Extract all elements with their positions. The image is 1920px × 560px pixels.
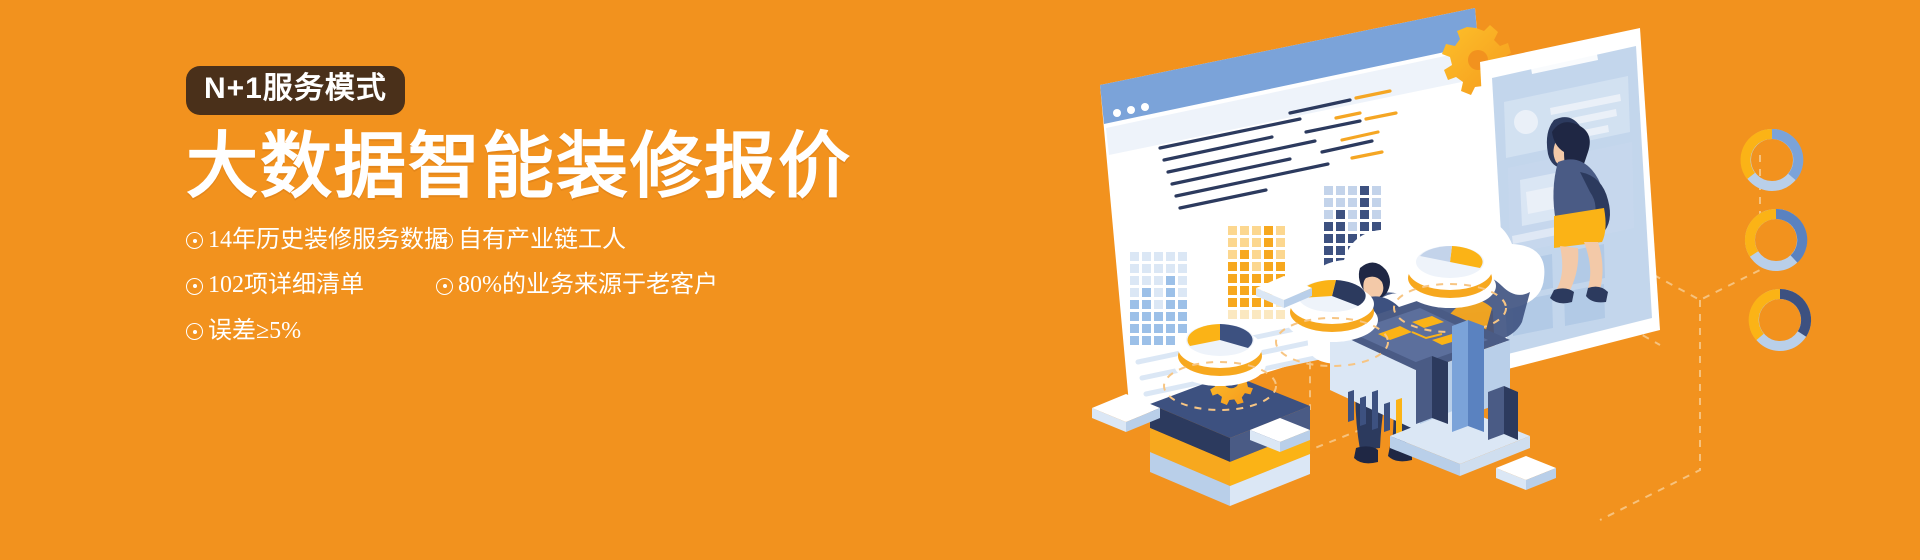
circled-dot-icon (186, 278, 203, 295)
service-mode-badge: N+1服务模式 (186, 66, 405, 115)
donut-ring (1745, 134, 1806, 346)
bullet-column-right: 自有产业链工人 80%的业务来源于老客户 (436, 227, 736, 318)
circled-dot-icon (436, 232, 453, 249)
isometric-illustration (1060, 0, 1920, 560)
list-item: 102项详细清单 (186, 272, 436, 300)
bullet-column-left: 14年历史装修服务数据 102项详细清单 误差≥5% (186, 227, 436, 364)
bullet-label: 80%的业务来源于老客户 (458, 272, 718, 300)
list-item: 误差≥5% (186, 318, 436, 346)
feature-bullet-list: 14年历史装修服务数据 102项详细清单 误差≥5% 自有产业链工人 (186, 227, 866, 364)
promo-banner: N+1服务模式 大数据智能装修报价 14年历史装修服务数据 102项详细清单 误… (0, 0, 1920, 560)
circled-dot-icon (186, 323, 203, 340)
list-item: 80%的业务来源于老客户 (436, 272, 736, 300)
banner-headline: 大数据智能装修报价 (186, 129, 866, 205)
list-item: 自有产业链工人 (436, 227, 736, 255)
bullet-label: 14年历史装修服务数据 (208, 227, 448, 255)
circled-dot-icon (186, 232, 203, 249)
circled-dot-icon (436, 278, 453, 295)
list-item: 14年历史装修服务数据 (186, 227, 436, 255)
bullet-label: 误差≥5% (208, 318, 301, 346)
bullet-label: 102项详细清单 (208, 272, 364, 300)
banner-text-block: N+1服务模式 大数据智能装修报价 14年历史装修服务数据 102项详细清单 误… (186, 66, 866, 396)
bullet-label: 自有产业链工人 (458, 227, 626, 255)
